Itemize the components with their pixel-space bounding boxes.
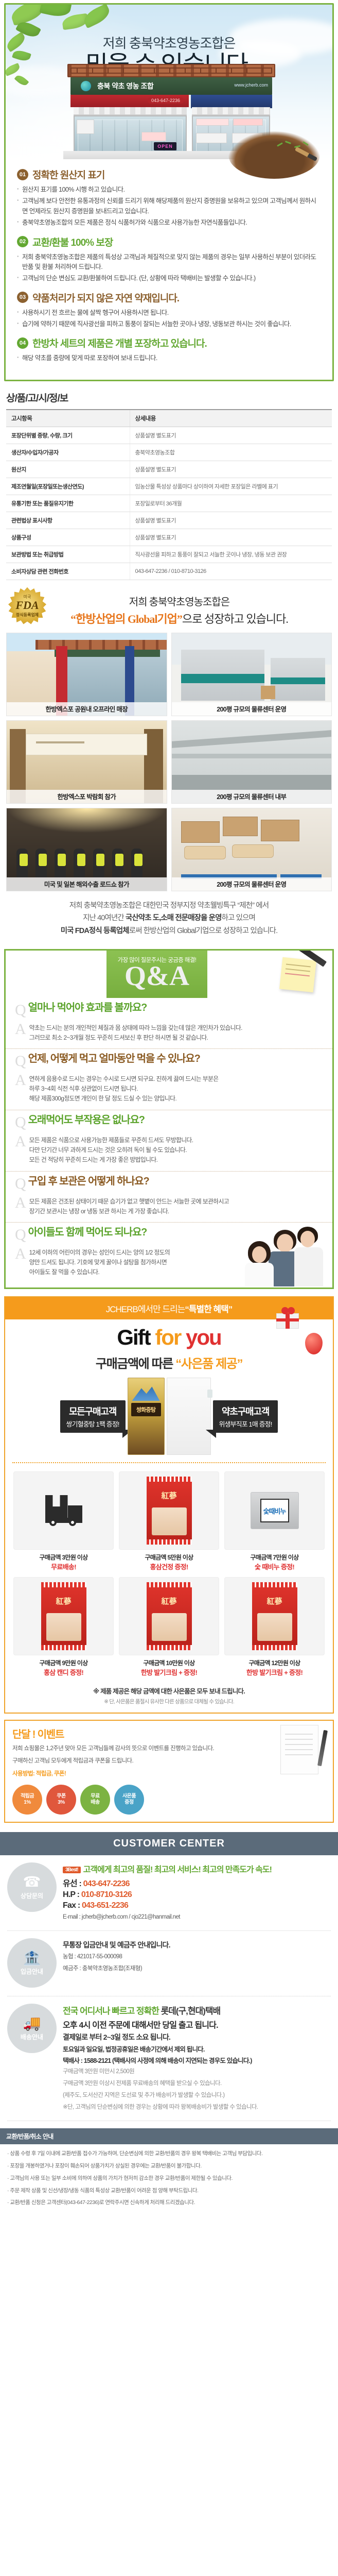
gift-tier-reward: 홍삼건정 증정! [119,1563,219,1572]
delivery-free-note: 구매금액 3만원 이상시 전제품 무료배송의 혜택을 받으실 수 있습니다. [63,2079,331,2089]
qa-question: 언제, 어떻게 먹고 얼마동안 먹을 수 있나요? [28,1053,200,1065]
gallery-caption: 미국 및 일본 해외수출 로드쇼 참가 [7,877,167,891]
gift-tier-amount: 구매금액 10만원 이상 [119,1659,219,1668]
soap-bar-icon: 숯때비누 [251,1492,299,1529]
table-row: 보관방법 또는 취급방법 직사광선을 피하고 통풍이 잘되고 서늘한 곳이나 냉… [6,546,332,563]
fax-value: 043-651-2236 [82,1901,128,1910]
promo-line: 구매하신 고객님 모두에게 적립금과 쿠폰을 드립니다. [12,1756,326,1766]
global-note-suffix: 하고 있으며 [222,914,255,922]
gallery-caption: 200평 규모의 물류센터 내부 [172,790,332,803]
gift-subtitle-prefix: 구매금액에 따른 [96,1357,175,1371]
cell-detail: 상품설명 별도표기 [130,461,332,478]
gift-tier-reward: 숯 때비누 증정! [224,1563,325,1572]
bank-account: 농협 : 421017-55-000098 [63,1952,331,1962]
product-detail-page: 저희 충북약초영농조합은 믿을 수 있습니다. 충북 약초 영농 조합 www.… [0,0,338,2223]
consult-icon-label: 상담문의 [21,1891,43,1900]
global-note-suffix: 로써 한방산업의 Global기업으로 성장하고 있습니다. [129,927,278,935]
stamp-line1: 쿠폰 [57,1793,65,1800]
gift-thumbnail: 紅蔘 [119,1577,219,1655]
gallery-caption: 한방엑스포 공원내 오프라인 매장 [7,702,167,716]
guarantee-line: 고객님께 보다 안전한 유통과정의 신뢰를 드리기 위해 해당제품의 원산지 증… [17,196,321,216]
tel-line: 유선 : 043-647-2236 [63,1876,331,1889]
cell-detail: 임농산물 특성상 상품마다 상이하여 자세한 포장일은 라벨에 표기 [130,478,332,495]
promo-stamp: 무료 배송 [80,1785,110,1815]
stamp-line2: 배송 [91,1800,99,1806]
qa-item: Q 오래먹어도 부작용은 없나요? A 모든 제품은 식품으로 사용가능한 제품… [6,1110,332,1171]
window-poster [233,118,263,126]
stamp-line2: 1% [24,1800,30,1806]
gift-tier-grid: 구매금액 3만원 이상 무료배송! 紅蔘 구매금액 5만원 이상 홍삼건정 증정… [5,1463,333,1681]
delivery-carrier: 택배사 : 1588-2121 (택배사의 사정에 의해 배송이 지연되는 경우… [63,2055,331,2065]
cell-item: 보관방법 또는 취급방법 [6,546,130,563]
delivery-icon-label: 배송안내 [21,2032,43,2041]
bank-glyph-icon: 🏦 [23,1951,41,1965]
promo-stamp-row: 적립금 1% 쿠폰 3% 무료 배송 사은품 증정 [12,1785,326,1815]
promo-stamp: 사은품 증정 [114,1785,144,1815]
guarantee-number: 01 [17,169,28,180]
table-row: 소비자상담 관련 전화번호 043-647-2236 / 010-8710-31… [6,563,332,580]
global-heading-emphasis: “한방산업의 Global기업” [70,613,182,625]
cell-detail: 상품설명 별도표기 [130,512,332,529]
sticky-note-icon [279,957,316,992]
gift-tier-card: 紅蔘 구매금액 5만원 이상 홍삼건정 증정! [119,1471,219,1572]
promo-stamp: 쿠폰 3% [46,1785,76,1815]
qa-question: 얼마나 먹어야 효과를 볼까요? [28,1002,147,1014]
hp-label: H.P : [63,1890,79,1899]
guarantee-item: 04 한방차 세트의 제품은 개별 포장하고 있습니다. 해당 약초를 중량에 … [17,336,321,363]
cell-detail: 직사광선을 피하고 통풍이 잘되고 서늘한 곳이나 냉장, 냉동 보관 권장 [130,546,332,563]
store-url-text: www.jcherb.com [234,82,268,88]
red-bag-icon: 紅蔘 [252,1582,297,1650]
bubble-subtitle: 위생부직포 1매 증정! [219,1419,272,1429]
gift-tier-reward: 무료배송! [13,1563,114,1572]
question-mark-icon: Q [15,1227,26,1243]
cell-detail: 상품설명 별도표기 [130,427,332,444]
table-row: 유통기한 또는 품질유지기한 포장일로부터 36개월 [6,495,332,512]
exchange-policy-body: · 상품 수령 후 7일 이내에 교환/반품 접수가 가능하며, 단순변심에 의… [0,2144,338,2223]
global-note-line1: 저희 충북약초영농조합은 대한민국 정부지정 약초웰빙특구 “제천” 에서 [11,900,327,912]
policy-line: · 교환/반품 신청은 고객센터(043-647-2236)로 연락주시면 신속… [7,2198,331,2208]
gallery-item: 한방엑스포 박람회 참가 [6,720,167,804]
stamp-line1: 무료 [91,1793,99,1800]
gift-tier-amount: 구매금액 7만원 이상 [224,1553,325,1562]
qa-question: 오래먹어도 부작용은 없나요? [28,1114,145,1126]
question-mark-icon: Q [15,1003,26,1018]
gift-tier-amount: 구매금액 9만원 이상 [13,1659,114,1668]
towel-image [167,1378,211,1455]
store-signboard: 충북 약초 영농 조합 www.jcherb.com [70,77,272,95]
delivery-headline: 전국 어디서나 빠르고 정확한 롯데(구,현대)택배 [63,2004,331,2016]
guarantee-line: 고객님의 단순 변심도 교환/환불하여 드립니다. (단, 상황에 따라 택배비… [17,274,321,283]
gift-section: JCHERB에서만 드리는“특별한 혜택” Gift for you 구매금액에… [4,1296,334,1714]
red-bag-icon: 紅蔘 [147,1582,192,1650]
contact-headline: 3Best!고객에게 최고의 품질! 최고의 서비스! 최고의 만족도가 속도! [63,1862,331,1875]
window-poster [77,120,94,134]
bank-holder: 예금주 : 충북약초영농조합(조재형) [63,1964,331,1974]
gift-tier-caption: 구매금액 9만원 이상 홍삼 캔디 증정! [13,1659,114,1677]
global-company-section: 미국 FDA 정식등록업체 저희 충북약초영농조합은 “한방산업의 Global… [0,585,338,944]
global-heading-line1: 저희 충북약초영농조합은 [27,594,332,608]
gift-notice-small: ※ 단, 사은품은 품절시 유사한 다른 상품으로 대체될 수 있습니다. [10,1698,328,1705]
table-row: 생산자/수입자/가공자 충북약초영농조합 [6,444,332,461]
consult-icon: ☎ 상담문의 [7,1862,57,1912]
email-value[interactable]: jcherb@jcherb.com / cjo221@hanmail.net [82,1914,180,1920]
store-phone-text: 043-647-2236 [148,97,184,104]
global-heading-line2: “한방산업의 Global기업”으로 성장하고 있습니다. [27,610,332,626]
gallery-item: 200평 규모의 물류센터 내부 [171,720,332,804]
contact-block: ☎ 상담문의 3Best!고객에게 최고의 품질! 최고의 서비스! 최고의 만… [7,1862,331,1922]
fax-label: Fax : [63,1901,80,1910]
gift-thumbnail: 紅蔘 [224,1577,325,1655]
gift-tier-amount: 구매금액 3만원 이상 [13,1553,114,1562]
col-header-item: 고시항목 [6,410,130,427]
qa-answer: 모든 제품은 식품으로 사용가능한 제품들로 꾸준히 드셔도 무방합니다. 다만… [29,1133,193,1165]
cell-item: 생산자/수입자/가공자 [6,444,130,461]
gallery-item: 200평 규모의 물류센터 운영 [171,808,332,891]
policy-line: · 고객님의 사용 또는 일부 소비에 의하여 상품의 가치가 현저히 감소한 … [7,2174,331,2183]
gift-notice: ※ 제품 제공은 해당 금액에 대한 사은품은 모두 보내 드립니다. ※ 단,… [5,1681,333,1713]
qa-answer: 약초는 드시는 분의 개인적인 체질과 몸 상태에 따라 느낌을 갖는데 많은 … [29,1021,242,1043]
gift-tier-reward: 한방 발기크림 + 증정! [224,1668,325,1677]
hero-line-1: 저희 충북약초영농조합은 [6,37,332,51]
balloon-icon [305,1333,323,1354]
guarantee-line: 사용하시기 전 흐르는 물에 살짝 헹구어 사용하시면 됩니다. [17,308,321,318]
window-poster [196,133,227,143]
stamp-line1: 사은품 [122,1793,136,1800]
answer-mark-icon: A [15,1022,26,1037]
cell-detail: 포장일로부터 36개월 [130,495,332,512]
guarantee-number: 03 [17,292,28,303]
store-sign-text: 충북 약초 영농 조합 [97,81,153,91]
tel-value: 043-647-2236 [83,1879,130,1888]
gift-tier-amount: 구매금액 12만원 이상 [224,1659,325,1668]
hp-line: H.P : 010-8710-3126 [63,1890,331,1900]
bank-block: 🏦 입금안내 무통장 입금안내 및 예금주 안내입니다. 농협 : 421017… [7,1938,331,1988]
promo-line: 저희 쇼핑몰은 1,2주년 맞아 모든 고객님들께 감사의 뜻으로 이벤트를 진… [12,1744,326,1753]
guarantee-title: 약품처리가 되지 않은 자연 약재입니다. [32,291,179,304]
delivery-island-note: (제주도, 도서산간 지역은 도선료 및 추가 배송비가 발생할 수 있습니다.… [63,2091,331,2100]
delivery-block: 🚚 배송안내 전국 어디서나 빠르고 정확한 롯데(구,현대)택배 오후 4시 … [7,2004,331,2112]
gift-notice-main: ※ 제품 제공은 해당 금액에 대한 사은품은 모두 보내 드립니다. [93,1688,245,1695]
store-blue-banner [191,95,272,108]
table-header-row: 고시항목 상세내용 [6,410,332,427]
gallery-item: 한방엑스포 공원내 오프라인 매장 [6,633,167,716]
qa-banner: 가장 많이 질문주시는 궁금증 해결! Q&A [6,951,332,998]
question-mark-icon: Q [15,1054,26,1069]
guarantee-line: 습기에 약하기 때문에 직사광선을 피하고 통풍이 잘되는 서늘한 곳이나 냉장… [17,319,321,329]
global-note-line2: 지난 40여년간 국산약초 도,소매 전문매장을 운영하고 있으며 [11,912,327,925]
global-note-bold: 국산약초 도,소매 전문매장을 운영 [126,914,222,922]
gift-tier-card: 紅蔘 구매금액 9만원 이상 홍삼 캔디 증정! [13,1577,114,1677]
gallery-item: 미국 및 일본 해외수출 로드쇼 참가 [6,808,167,891]
table-row: 포장단위별 중량, 수량, 크기 상품설명 별도표기 [6,427,332,444]
qa-answer: 연하게 음용수로 드시는 경우는 수시로 드시면 되구요. 진하게 끓여 드시는… [29,1072,219,1104]
gallery-caption: 한방엑스포 박람회 참가 [7,790,167,803]
gift-tier-caption: 구매금액 10만원 이상 한방 발기크림 + 증정! [119,1659,219,1677]
delivery-cutoff: 오후 4시 이전 주문에 대해서만 당일 출고 됩니다. [63,2018,331,2030]
bank-headline: 무통장 입금안내 및 예금주 안내입니다. [63,1940,331,1950]
gift-header-prefix: JCHERB에서만 드리는 [106,1304,185,1314]
answer-mark-icon: A [15,1246,26,1262]
delivery-leadtime: 결제일로 부터 2~3일 정도 소요 됩니다. [63,2032,331,2042]
global-heading-tail: 으로 성장하고 있습니다. [182,613,288,625]
guarantee-number: 02 [17,236,28,247]
guarantee-line: 원산지 표기를 100% 시행 하고 있습니다. [17,185,321,195]
policy-line: · 주문 제작 상품 및 신선/냉장/냉동 식품의 특성상 교환/반품이 어려운… [7,2187,331,2196]
gift-thumbnail: 紅蔘 [13,1577,114,1655]
fda-seal-bottom: 정식등록업체 [8,612,46,618]
gift-title-word1: Gift [117,1325,150,1349]
awning-right [192,107,270,115]
red-bag-icon: 紅蔘 [41,1582,86,1650]
qa-section: 가장 많이 질문주시는 궁금증 해결! Q&A Q 얼마나 먹어야 효과를 볼까… [4,949,334,1289]
promo-cta[interactable]: 사용방법: 적립금, 쿠폰! [12,1769,326,1778]
cell-detail: 상품설명 별도표기 [130,529,332,546]
gallery-item: 200평 규모의 물류센터 운영 [171,633,332,716]
cell-item: 관련법상 표시사항 [6,512,130,529]
trust-section: 저희 충북약초영농조합은 믿을 수 있습니다. 충북 약초 영농 조합 www.… [4,3,334,381]
gift-header-emphasis: “특별한 혜택” [185,1304,232,1314]
gift-tier-card: 구매금액 3만원 이상 무료배송! [13,1471,114,1572]
question-mark-icon: Q [15,1115,26,1130]
gift-bubble-herb-customers: 약초구매고객 위생부직포 1매 증정! [213,1400,278,1433]
pack-label: 쌍화중탕 [131,1403,161,1416]
delivery-headline-green: 전국 어디서나 빠르고 정확한 [63,2006,159,2016]
store-roof [67,64,275,77]
window-poster [141,132,166,141]
gift-freebies-row: 모든구매고객 쌍기혈중탕 1팩 증정! 쌍화중탕 약초구매고객 위생부직포 1매… [5,1375,333,1462]
promo-section: 단달 ! 이벤트 저희 쇼핑몰은 1,2주년 맞아 모든 고객님들께 감사의 뜻… [4,1720,334,1823]
global-heading: 저희 충북약초영농조합은 “한방산업의 Global기업”으로 성장하고 있습니… [6,594,332,626]
gift-tier-reward: 홍삼 캔디 증정! [13,1668,114,1677]
bank-icon: 🏦 입금안내 [7,1938,57,1988]
table-row: 상품구성 상품설명 별도표기 [6,529,332,546]
guarantee-number: 04 [17,337,28,349]
policy-line: · 상품 수령 후 7일 이내에 교환/반품 접수가 가능하며, 단순변심에 의… [7,2149,331,2159]
photo-gallery: 한방엑스포 공원내 오프라인 매장 200평 규모의 물류센터 운영 한방엑스포… [6,633,332,891]
qa-banner-title: Q&A [106,962,207,990]
answer-mark-icon: A [15,1195,26,1211]
gift-tier-caption: 구매금액 5만원 이상 홍삼건정 증정! [119,1553,219,1572]
gift-title-word2: for [155,1325,181,1349]
truck-icon [44,1495,83,1526]
promo-title: 단달 ! 이벤트 [12,1726,326,1741]
gallery-caption: 200평 규모의 물류센터 운영 [172,877,332,891]
exchange-policy-bar: 교환/반품/취소 안내 [0,2128,338,2144]
global-note-prefix: 지난 40여년간 [83,914,126,922]
window-poster [196,118,229,126]
product-notice-section: 상/품/고/시/정/보 고시항목 상세내용 포장단위별 중량, 수량, 크기 상… [0,381,338,585]
notice-title: 상/품/고/시/정/보 [6,391,332,404]
product-pack-image: 쌍화중탕 [128,1378,165,1455]
global-description: 저희 충북약초영농조합은 대한민국 정부지정 약초웰빙특구 “제천” 에서 지난… [6,891,332,941]
policy-line: · 포장을 개봉하였거나 포장이 훼손되어 상품가치가 상실된 경우에는 교환/… [7,2162,331,2171]
cell-item: 상품구성 [6,529,130,546]
red-bag-icon: 紅蔘 [147,1477,192,1545]
gift-tier-caption: 구매금액 12만원 이상 한방 발기크림 + 증정! [224,1659,325,1677]
customer-center-bar: CUSTOMER CENTER [0,1832,338,1855]
guarantee-title: 한방차 세트의 제품은 개별 포장하고 있습니다. [32,336,207,350]
guarantee-item: 01 정확한 원산지 표기 원산지 표기를 100% 시행 하고 있습니다. 고… [17,167,321,228]
gift-subtitle-emphasis: “사은품 제공” [175,1357,242,1371]
gift-tier-card: 紅蔘 구매금액 10만원 이상 한방 발기크림 + 증정! [119,1577,219,1677]
cell-item: 소비자상담 관련 전화번호 [6,563,130,580]
stamp-line1: 적립금 [21,1793,34,1800]
gift-title-word3: you [186,1325,221,1349]
customer-center-body: ☎ 상담문의 3Best!고객에게 최고의 품질! 최고의 서비스! 최고의 만… [0,1855,338,2121]
cell-item: 유통기한 또는 품질유지기한 [6,495,130,512]
qa-answer: 12세 이하의 어린이의 경우는 성인이 드시는 양의 1/2 정도의 양만 드… [29,1246,170,1277]
gallery-caption: 200평 규모의 물류센터 운영 [172,702,332,716]
qa-question: 아이들도 함께 먹어도 되나요? [28,1227,147,1239]
gift-thumbnail [13,1471,114,1550]
divider [7,1996,331,1996]
divider [7,1930,331,1931]
gift-tier-card: 紅蔘 구매금액 12만원 이상 한방 발기크림 + 증정! [224,1577,325,1677]
guarantee-line: 저희 충북약초영농조합은 제품의 특성상 고객님과 체질적으로 맞지 않는 제품… [17,252,321,273]
bubble-subtitle: 쌍기혈중탕 1팩 증정! [66,1419,119,1429]
delivery-headline-dark: 롯데(구,현대)택배 [159,2006,220,2016]
guarantee-line: 해당 약초를 중량에 맞게 따로 포장하여 보내 드립니다. [17,353,321,363]
fda-seal-mid: FDA [8,599,46,612]
guarantee-title: 정확한 원산지 표기 [32,167,104,181]
answer-mark-icon: A [15,1134,26,1149]
awning-left [74,107,187,115]
gift-tier-card: 숯때비누 구매금액 7만원 이상 숯 때비누 증정! [224,1471,325,1572]
store-red-banner: 043-647-2236 [70,95,189,107]
bubble-title: 모든구매고객 [66,1404,119,1418]
table-row: 관련법상 표시사항 상품설명 별도표기 [6,512,332,529]
qa-item: Q 얼마나 먹어야 효과를 볼까요? A 약초는 드시는 분의 개인적인 체질과… [6,998,332,1049]
gift-bubble-all-customers: 모든구매고객 쌍기혈중탕 1팩 증정! [60,1400,126,1433]
email-line: E-mail : jcherb@jcherb.com / cjo221@hanm… [63,1912,331,1922]
fax-line: Fax : 043-651-2236 [63,1901,331,1910]
global-note-line3: 미국 FDA정식 등록업체로써 한방산업의 Global기업으로 성장하고 있습… [11,925,327,938]
guarantee-line: 충북약초영농조합의 모든 제품은 정식 식품허가와 식품으로 사용가능한 자연식… [17,218,321,228]
qa-item: Q 언제, 어떻게 먹고 얼마동안 먹을 수 있나요? A 연하게 음용수로 드… [6,1048,332,1110]
qa-item: Q 아이들도 함께 먹어도 되나요? A 12세 이하의 어린이의 경우는 성인… [6,1222,332,1283]
phone-icon: ☎ [23,1875,41,1889]
gift-tier-caption: 구매금액 7만원 이상 숯 때비누 증정! [224,1553,325,1572]
bubble-title: 약초구매고객 [219,1404,272,1418]
question-mark-icon: Q [15,1176,26,1192]
global-note-bold: 미국 FDA정식 등록업체 [61,927,129,935]
guarantee-list: 01 정확한 원산지 표기 원산지 표기를 100% 시행 하고 있습니다. 고… [6,159,332,380]
stamp-line2: 3% [58,1800,64,1806]
promo-stamp: 적립금 1% [12,1785,42,1815]
gift-tier-caption: 구매금액 3만원 이상 무료배송! [13,1553,114,1572]
bank-icon-label: 입금안내 [21,1967,43,1976]
gift-subtitle: 구매금액에 따른 “사은품 제공” [5,1353,333,1371]
company-logo-icon [81,81,91,91]
gift-tier-amount: 구매금액 5만원 이상 [119,1553,219,1562]
notepad-icon [280,1725,325,1774]
guarantee-title: 교환/환불 100% 보장 [32,235,113,249]
contact-headline-text: 고객에게 최고의 품질! 최고의 서비스! 최고의 만족도가 속도! [83,1866,272,1874]
delivery-return-note: ※단, 고객님의 단순변심에 의한 경우는 상황에 따라 왕복배송비가 발생할 … [63,2103,331,2112]
delivery-icon: 🚚 배송안내 [7,2004,57,2053]
cell-detail: 043-647-2236 / 010-8710-3126 [130,563,332,580]
gift-tier-reward: 한방 발기크림 + 증정! [119,1668,219,1677]
stamp-line2: 증정 [124,1800,133,1806]
divider [7,2121,331,2121]
gift-main: Gift for you 구매금액에 따른 “사은품 제공” [5,1319,333,1375]
col-header-detail: 상세내용 [130,410,332,427]
cell-detail: 충북약초영농조합 [130,444,332,461]
fda-seal-icon: 미국 FDA 정식등록업체 [8,587,46,625]
qa-item: Q 구입 후 보관은 어떻게 하나요? A 모든 제품은 건조된 상태이기 때문… [6,1171,332,1223]
family-photo [230,1226,328,1286]
table-row: 원산지 상품설명 별도표기 [6,461,332,478]
delivery-holiday-note: 토요일과 일요일, 법정공휴일은 배송기간에서 제외 됩니다. [63,2044,331,2054]
qa-answer: 모든 제품은 건조된 상태이기 때문 습기가 없고 햇볕이 안드는 서늘한 곳에… [29,1195,229,1216]
qa-question: 구입 후 보관은 어떻게 하나요? [28,1176,149,1188]
table-row: 제조연월일(포장일또는생산연도) 임농산물 특성상 상품마다 상이하여 자세한 … [6,478,332,495]
answer-mark-icon: A [15,1073,26,1088]
product-notice-table: 고시항목 상세내용 포장단위별 중량, 수량, 크기 상품설명 별도표기 생산자… [6,409,332,580]
tel-label: 유선 : [63,1879,81,1888]
guarantee-item: 03 약품처리가 되지 않은 자연 약재입니다. 사용하시기 전 흐르는 물에 … [17,291,321,330]
open-sign: OPEN [154,142,176,150]
best-badge: 3Best! [63,1867,81,1873]
cell-item: 제조연월일(포장일또는생산연도) [6,478,130,495]
hp-value: 010-8710-3126 [81,1890,132,1899]
email-label: E-mail : [63,1914,80,1920]
gift-box-icon [273,1306,303,1331]
truck-glyph-icon: 🚚 [23,2016,41,2030]
cell-item: 포장단위별 중량, 수량, 크기 [6,427,130,444]
guarantee-item: 02 교환/환불 100% 보장 저희 충북약초영농조합은 제품의 특성상 고객… [17,235,321,284]
delivery-fee-note: 구매금액 3만원 미만시 2,500원 [63,2067,331,2077]
gift-thumbnail: 숯때비누 [224,1471,325,1550]
cell-item: 원산지 [6,461,130,478]
gift-thumbnail: 紅蔘 [119,1471,219,1550]
